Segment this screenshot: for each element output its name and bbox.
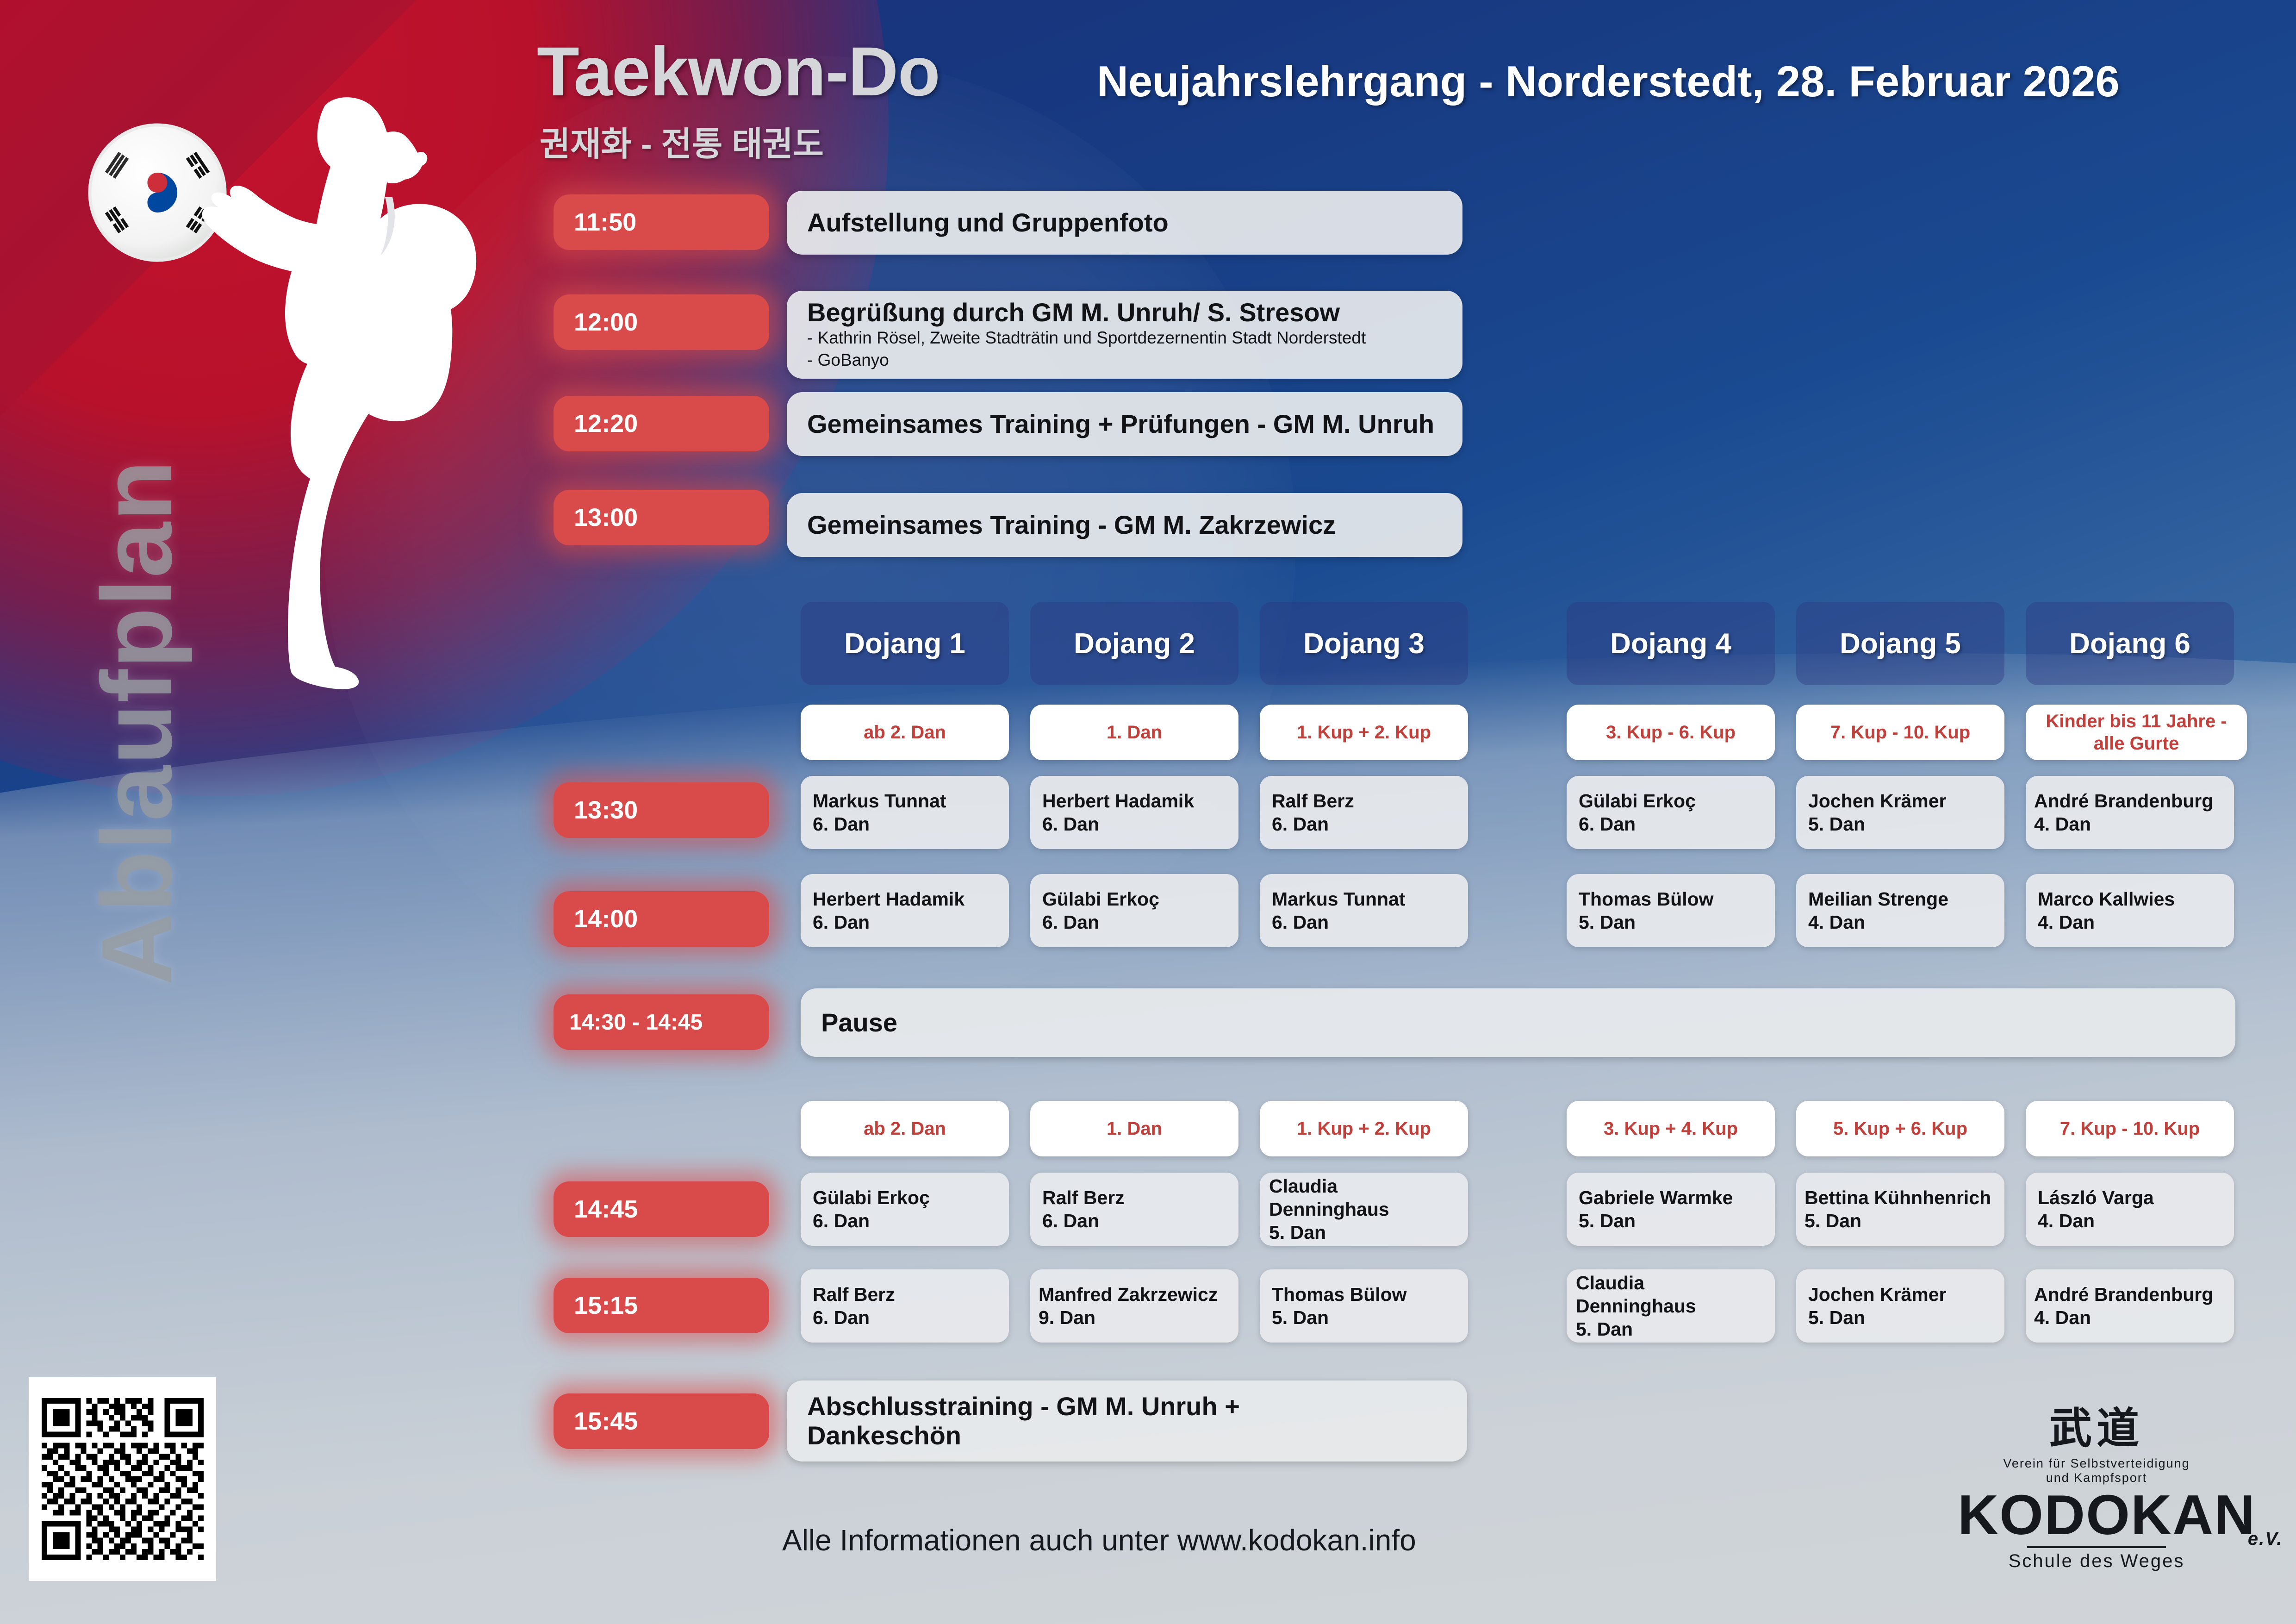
trainer-name: Herbert Hadamik	[813, 887, 997, 911]
trainer-grade: 6. Dan	[1272, 812, 1456, 836]
closing-line-2: Dankeschön	[807, 1421, 1240, 1450]
trainer-cell: Gülabi Erkoç 6. Dan	[1567, 776, 1775, 849]
trainer-grade: 5. Dan	[1576, 1318, 1766, 1341]
schedule-item-title: Begrüßung durch GM M. Unruh/ S. Stresow	[807, 298, 1366, 327]
grade-badge-s1-d5: 7. Kup - 10. Kup	[1796, 705, 2004, 760]
grade-badge-s2-d5: 5. Kup + 6. Kup	[1796, 1101, 2004, 1156]
trainer-grade: 5. Dan	[1269, 1221, 1459, 1244]
time-badge-pause: 14:30 - 14:45	[554, 994, 769, 1050]
trainer-name: Ralf Berz	[1272, 789, 1456, 812]
trainer-name: Claudia Denninghaus	[1576, 1271, 1766, 1318]
logo-tagline: Schule des Weges	[1958, 1551, 2235, 1572]
trainer-grade: 6. Dan	[1042, 812, 1226, 836]
time-badge: 15:15	[554, 1278, 769, 1333]
logo-name-text: KODOKAN	[1958, 1483, 2256, 1546]
trainer-cell: Claudia Denninghaus 5. Dan	[1260, 1173, 1468, 1246]
time-badge: 15:45	[554, 1393, 769, 1449]
grade-badge-s1-d1: ab 2. Dan	[801, 705, 1009, 760]
schedule-item-title: Aufstellung und Gruppenfoto	[807, 208, 1169, 237]
trainer-cell: Thomas Bülow 5. Dan	[1260, 1269, 1468, 1343]
dojang-header-6: Dojang 6	[2026, 602, 2234, 685]
trainer-grade: 6. Dan	[813, 911, 997, 934]
time-badge: 14:00	[554, 891, 769, 947]
trainer-cell: Gülabi Erkoç 6. Dan	[1030, 874, 1238, 947]
trainer-cell: Claudia Denninghaus 5. Dan	[1567, 1269, 1775, 1343]
grade-badge-s1-d6: Kinder bis 11 Jahre - alle Gurte	[2026, 705, 2247, 760]
qr-code-icon[interactable]	[29, 1377, 216, 1581]
time-badge: 13:00	[554, 490, 769, 545]
trainer-grade: 4. Dan	[2034, 1306, 2226, 1329]
schedule-item-title: Gemeinsames Training - GM M. Zakrzewicz	[807, 511, 1336, 540]
trainer-cell: Markus Tunnat 6. Dan	[801, 776, 1009, 849]
trainer-name: Manfred Zakrzewicz	[1039, 1283, 1230, 1306]
trainer-grade: 5. Dan	[1272, 1306, 1456, 1329]
schedule-item-begruessung: Begrüßung durch GM M. Unruh/ S. Stresow …	[787, 291, 1462, 379]
kodokan-logo: 武道 Verein für Selbstverteidigung und Kam…	[1958, 1407, 2235, 1593]
trainer-name: Herbert Hadamik	[1042, 789, 1226, 812]
schedule-item-note: - GoBanyo	[807, 349, 1366, 371]
trainer-grade: 6. Dan	[813, 812, 997, 836]
trainer-cell: Manfred Zakrzewicz 9. Dan	[1030, 1269, 1238, 1343]
trainer-cell: Thomas Bülow 5. Dan	[1567, 874, 1775, 947]
trainer-grade: 6. Dan	[1042, 911, 1226, 934]
grade-badge-s1-d4: 3. Kup - 6. Kup	[1567, 705, 1775, 760]
dojang-header-5: Dojang 5	[1796, 602, 2004, 685]
logo-line-1: Verein für Selbstverteidigung	[1958, 1456, 2235, 1471]
grade-badge-s1-d3: 1. Kup + 2. Kup	[1260, 705, 1468, 760]
trainer-cell: Jochen Krämer 5. Dan	[1796, 1269, 2004, 1343]
poster-header: Taekwon-Do 권재화 - 전통 태권도 Neujahrslehrgang…	[528, 19, 2249, 171]
trainer-name: Jochen Krämer	[1808, 1283, 1992, 1306]
trainer-cell: Gülabi Erkoç 6. Dan	[801, 1173, 1009, 1246]
trainer-name: Gabriele Warmke	[1579, 1186, 1763, 1209]
event-subtitle: Neujahrslehrgang - Norderstedt, 28. Febr…	[1097, 56, 2120, 106]
grade-badge-s2-d2: 1. Dan	[1030, 1101, 1238, 1156]
dojang-header-4: Dojang 4	[1567, 602, 1775, 685]
budo-kanji-icon: 武道	[1958, 1407, 2235, 1450]
trainer-grade: 5. Dan	[1804, 1209, 1996, 1232]
trainer-name: Claudia Denninghaus	[1269, 1174, 1459, 1221]
time-badge: 13:30	[554, 782, 769, 838]
trainer-name: Markus Tunnat	[1272, 887, 1456, 911]
trainer-name: Marco Kallwies	[2038, 887, 2222, 911]
trainer-cell: László Varga 4. Dan	[2026, 1173, 2234, 1246]
schedule-item-training-pruefungen: Gemeinsames Training + Prüfungen - GM M.…	[787, 392, 1462, 456]
grade-badge-s2-d6: 7. Kup - 10. Kup	[2026, 1101, 2234, 1156]
time-badge: 14:45	[554, 1181, 769, 1237]
logo-name: KODOKAN e.V.	[1958, 1485, 2256, 1545]
schedule-item-pause: Pause	[801, 988, 2235, 1057]
time-badge: 12:20	[554, 396, 769, 451]
trainer-name: Gülabi Erkoç	[813, 1186, 997, 1209]
trainer-name: Jochen Krämer	[1808, 789, 1992, 812]
trainer-cell: Ralf Berz 6. Dan	[801, 1269, 1009, 1343]
trainer-name: André Brandenburg	[2034, 789, 2226, 812]
schedule-item-note: - Kathrin Rösel, Zweite Stadträtin und S…	[807, 327, 1366, 349]
trainer-cell: Marco Kallwies 4. Dan	[2026, 874, 2234, 947]
logo-suffix: e.V.	[2248, 1529, 2283, 1549]
trainer-name: Gülabi Erkoç	[1579, 789, 1763, 812]
trainer-cell: Bettina Kühnhenrich 5. Dan	[1796, 1173, 2004, 1246]
trainer-grade: 5. Dan	[1579, 1209, 1763, 1232]
trainer-grade: 4. Dan	[2038, 1209, 2222, 1232]
trainer-cell: Ralf Berz 6. Dan	[1030, 1173, 1238, 1246]
trainer-name: Meilian Strenge	[1808, 887, 1992, 911]
schedule-item-training-zakrzewicz: Gemeinsames Training - GM M. Zakrzewicz	[787, 493, 1462, 557]
trainer-cell: Herbert Hadamik 6. Dan	[1030, 776, 1238, 849]
time-badge: 12:00	[554, 294, 769, 350]
trainer-grade: 6. Dan	[1272, 911, 1456, 934]
trainer-cell: Meilian Strenge 4. Dan	[1796, 874, 2004, 947]
trainer-name: Markus Tunnat	[813, 789, 997, 812]
closing-line-1: Abschlusstraining - GM M. Unruh +	[807, 1392, 1240, 1421]
taekwondo-kick-silhouette-icon	[116, 88, 602, 704]
trainer-cell: André Brandenburg 4. Dan	[2026, 1269, 2234, 1343]
trainer-cell: André Brandenburg 4. Dan	[2026, 776, 2234, 849]
grade-badge-s2-d4: 3. Kup + 4. Kup	[1567, 1101, 1775, 1156]
trainer-grade: 4. Dan	[2038, 911, 2222, 934]
grade-badge-s2-d1: ab 2. Dan	[801, 1101, 1009, 1156]
trainer-grade: 6. Dan	[813, 1306, 997, 1329]
trainer-grade: 4. Dan	[1808, 911, 1992, 934]
schedule-item-title: Gemeinsames Training + Prüfungen - GM M.…	[807, 410, 1434, 439]
schedule-item-abschlusstraining: Abschlusstraining - GM M. Unruh + Dankes…	[787, 1380, 1467, 1462]
trainer-grade: 9. Dan	[1039, 1306, 1230, 1329]
footer-info-text: Alle Informationen auch unter www.kodoka…	[782, 1523, 1416, 1557]
dojang-header-3: Dojang 3	[1260, 602, 1468, 685]
time-badge: 11:50	[554, 194, 769, 250]
trainer-name: Ralf Berz	[813, 1283, 997, 1306]
trainer-name: László Varga	[2038, 1186, 2222, 1209]
grade-badge-s2-d3: 1. Kup + 2. Kup	[1260, 1101, 1468, 1156]
trainer-cell: Jochen Krämer 5. Dan	[1796, 776, 2004, 849]
grade-badge-s1-d2: 1. Dan	[1030, 705, 1238, 760]
dojang-header-1: Dojang 1	[801, 602, 1009, 685]
trainer-cell: Markus Tunnat 6. Dan	[1260, 874, 1468, 947]
trainer-grade: 5. Dan	[1808, 1306, 1992, 1329]
trainer-name: Thomas Bülow	[1579, 887, 1763, 911]
schedule-item-aufstellung: Aufstellung und Gruppenfoto	[787, 191, 1462, 255]
trainer-grade: 5. Dan	[1579, 911, 1763, 934]
pause-label: Pause	[821, 1008, 897, 1037]
logo-divider	[2027, 1546, 2166, 1548]
trainer-grade: 6. Dan	[1042, 1209, 1226, 1232]
trainer-name: Thomas Bülow	[1272, 1283, 1456, 1306]
trainer-name: Gülabi Erkoç	[1042, 887, 1226, 911]
trainer-name: Ralf Berz	[1042, 1186, 1226, 1209]
page-title: Taekwon-Do	[537, 31, 940, 112]
trainer-grade: 4. Dan	[2034, 812, 2226, 836]
page-title-korean: 권재화 - 전통 태권도	[540, 117, 824, 165]
trainer-cell: Ralf Berz 6. Dan	[1260, 776, 1468, 849]
trainer-grade: 6. Dan	[1579, 812, 1763, 836]
trainer-name: André Brandenburg	[2034, 1283, 2226, 1306]
trainer-grade: 6. Dan	[813, 1209, 997, 1232]
trainer-grade: 5. Dan	[1808, 812, 1992, 836]
dojang-header-2: Dojang 2	[1030, 602, 1238, 685]
trainer-cell: Gabriele Warmke 5. Dan	[1567, 1173, 1775, 1246]
trainer-name: Bettina Kühnhenrich	[1804, 1186, 1996, 1209]
trainer-cell: Herbert Hadamik 6. Dan	[801, 874, 1009, 947]
